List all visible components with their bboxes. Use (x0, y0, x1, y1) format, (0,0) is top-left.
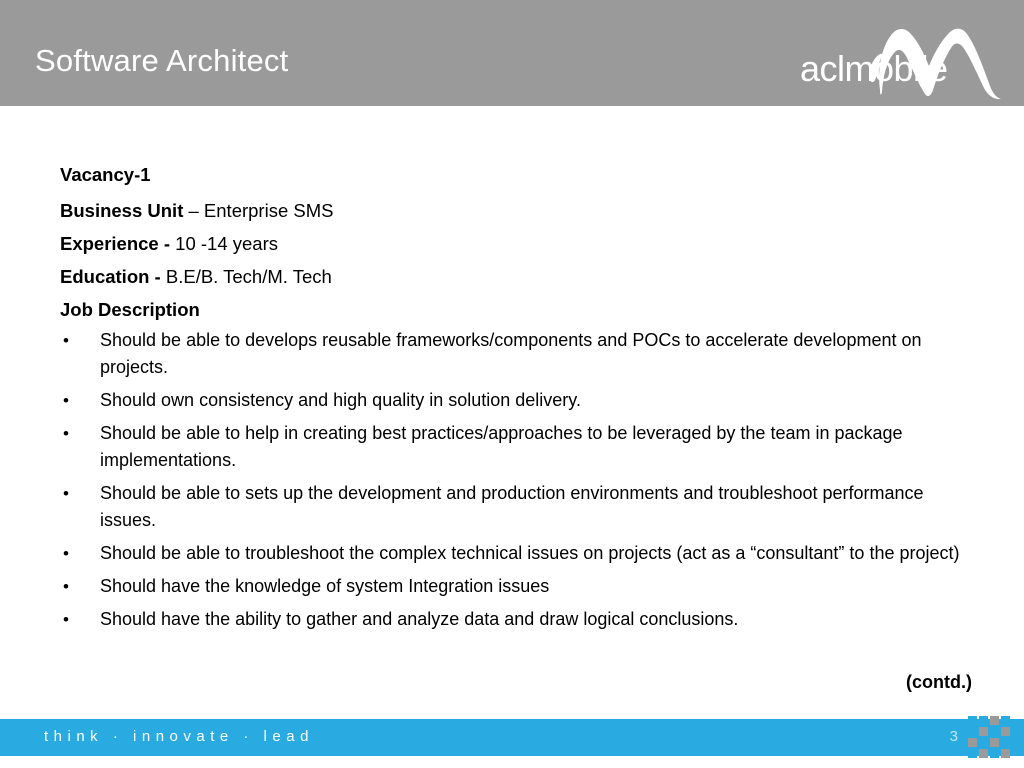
company-logo: aclmobile (794, 6, 1010, 100)
continuation-note: (contd.) (0, 672, 1024, 693)
dot-cell (979, 727, 988, 736)
meta-label: Business Unit (60, 200, 183, 221)
list-item-text: Should have the ability to gather and an… (100, 606, 960, 633)
bullet-point-icon: • (60, 573, 100, 600)
list-item: • Should be able to help in creating bes… (60, 420, 980, 474)
dot-cell (1001, 716, 1010, 725)
dot-cell (968, 738, 977, 747)
list-item-text: Should be able to help in creating best … (100, 420, 960, 474)
footer-tagline: think · innovate · lead (44, 728, 314, 745)
dot-cell (979, 749, 988, 758)
list-item: • Should be able to develops reusable fr… (60, 327, 980, 381)
list-item: • Should own consistency and high qualit… (60, 387, 980, 414)
meta-line-job-description: Job Description (60, 293, 960, 326)
dot-cell (968, 727, 977, 736)
list-item-text: Should be able to develops reusable fram… (100, 327, 960, 381)
dot-cell (990, 749, 999, 758)
logo-wordmark: aclmobile (794, 48, 1010, 90)
dot-cell (979, 716, 988, 725)
meta-label: Job Description (60, 299, 200, 320)
dot-cell (990, 738, 999, 747)
meta-line-education: Education - B.E/B. Tech/M. Tech (60, 260, 960, 293)
list-item: • Should have the knowledge of system In… (60, 573, 980, 600)
meta-label: Education - (60, 266, 161, 287)
meta-label: Vacancy-1 (60, 164, 151, 185)
decorative-dot-grid (968, 716, 1012, 760)
list-item-text: Should be able to sets up the developmen… (100, 480, 960, 534)
dot-cell (1001, 738, 1010, 747)
list-item: • Should have the ability to gather and … (60, 606, 980, 633)
dot-cell (1001, 749, 1010, 758)
bullet-point-icon: • (60, 327, 100, 354)
meta-line-vacancy: Vacancy-1 (60, 158, 960, 191)
dot-cell (990, 716, 999, 725)
meta-line-business-unit: Business Unit – Enterprise SMS (60, 194, 960, 227)
list-item: • Should be able to sets up the developm… (60, 480, 980, 534)
meta-value: 10 -14 years (170, 233, 278, 254)
dot-cell (1001, 727, 1010, 736)
meta-label: Experience - (60, 233, 170, 254)
bullet-point-icon: • (60, 606, 100, 633)
list-item-text: Should be able to troubleshoot the compl… (100, 540, 960, 567)
slide-content: Vacancy-1 Business Unit – Enterprise SMS… (0, 106, 1024, 719)
bullet-point-icon: • (60, 420, 100, 447)
bullet-point-icon: • (60, 480, 100, 507)
list-item-text: Should own consistency and high quality … (100, 387, 960, 414)
dot-cell (968, 749, 977, 758)
meta-value: B.E/B. Tech/M. Tech (161, 266, 332, 287)
page-number: 3 (950, 728, 958, 745)
dot-cell (990, 727, 999, 736)
job-description-bullet-list: • Should be able to develops reusable fr… (60, 327, 980, 639)
list-item-text: Should have the knowledge of system Inte… (100, 573, 960, 600)
job-meta-block: Vacancy-1 Business Unit – Enterprise SMS… (60, 158, 960, 326)
meta-line-experience: Experience - 10 -14 years (60, 227, 960, 260)
list-item: • Should be able to troubleshoot the com… (60, 540, 980, 567)
footer-bar: think · innovate · lead 3 (0, 719, 1024, 756)
bullet-point-icon: • (60, 540, 100, 567)
page-title: Software Architect (35, 43, 288, 79)
dot-cell (968, 716, 977, 725)
bullet-point-icon: • (60, 387, 100, 414)
meta-value: – Enterprise SMS (183, 200, 333, 221)
dot-cell (979, 738, 988, 747)
